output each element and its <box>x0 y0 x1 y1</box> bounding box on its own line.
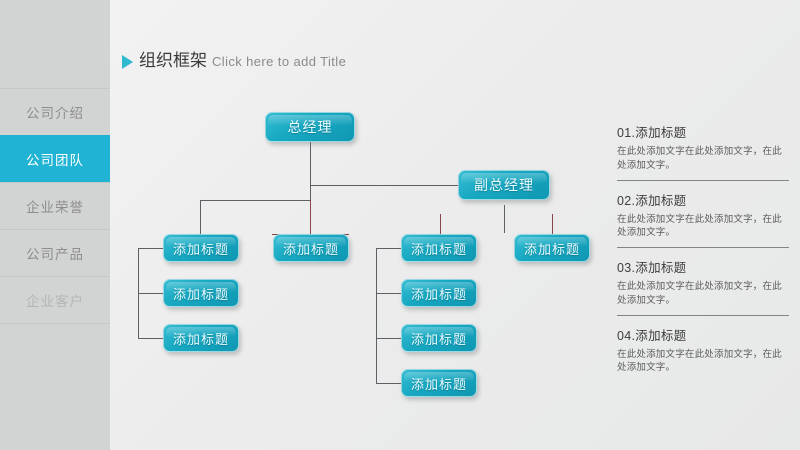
org-node-label: 添加标题 <box>411 239 467 258</box>
connector-center-col-spine <box>376 248 377 383</box>
connector-drop-b <box>310 200 311 234</box>
org-node-label: 添加标题 <box>173 284 229 303</box>
org-node-label: 添加标题 <box>411 284 467 303</box>
org-node-level1-c[interactable]: 添加标题 <box>401 234 477 262</box>
org-node-label: 添加标题 <box>283 239 339 258</box>
detail-body: 在此处添加文字在此处添加文字，在此处添加文字。 <box>617 145 789 173</box>
org-node-level2-c4[interactable]: 添加标题 <box>401 369 477 397</box>
detail-item-01: 01.添加标题 在此处添加文字在此处添加文字，在此处添加文字。 <box>617 122 789 181</box>
connector-drop-a <box>200 200 201 234</box>
sidebar-divider-bottom <box>0 323 110 370</box>
detail-item-03: 03.添加标题 在此处添加文字在此处添加文字，在此处添加文字。 <box>617 257 789 316</box>
detail-heading: 04.添加标题 <box>617 325 789 344</box>
sidebar-item-company-products[interactable]: 公司产品 <box>0 229 110 276</box>
sidebar-nav: 公司介绍 公司团队 企业荣誉 公司产品 企业客户 <box>0 0 110 450</box>
sidebar-item-company-clients[interactable]: 企业客户 <box>0 276 110 323</box>
detail-heading: 02.添加标题 <box>617 190 789 209</box>
sidebar-item-label: 企业客户 <box>26 290 84 310</box>
org-node-level1-b[interactable]: 添加标题 <box>273 234 349 262</box>
sidebar-item-label: 公司团队 <box>26 149 84 169</box>
sidebar-item-label: 公司产品 <box>26 243 84 263</box>
org-chart: 总经理 副总经理 添加标题 添加标题 添加标题 添加标题 添加标题 添加标题 添… <box>110 0 610 450</box>
org-node-level2-c3[interactable]: 添加标题 <box>401 324 477 352</box>
org-node-level1-a[interactable]: 添加标题 <box>163 234 239 262</box>
sidebar-item-label: 企业荣誉 <box>26 196 84 216</box>
connector-center-col-d <box>376 383 401 384</box>
detail-item-04: 04.添加标题 在此处添加文字在此处添加文字，在此处添加文字。 <box>617 325 789 383</box>
detail-item-02: 02.添加标题 在此处添加文字在此处添加文字，在此处添加文字。 <box>617 190 789 249</box>
org-node-general-manager[interactable]: 总经理 <box>265 112 355 142</box>
detail-body: 在此处添加文字在此处添加文字，在此处添加文字。 <box>617 348 789 376</box>
detail-body: 在此处添加文字在此处添加文字，在此处添加文字。 <box>617 280 789 308</box>
connector-center-col-b <box>376 293 401 294</box>
org-node-level2-c2[interactable]: 添加标题 <box>401 279 477 307</box>
org-node-label: 添加标题 <box>173 329 229 348</box>
slide-canvas: 公司介绍 公司团队 企业荣誉 公司产品 企业客户 组织框架 Click here… <box>0 0 800 450</box>
org-node-label: 副总经理 <box>474 175 534 195</box>
connector-center-col-a <box>376 248 401 249</box>
org-node-level2-a3[interactable]: 添加标题 <box>163 324 239 352</box>
org-node-label: 添加标题 <box>411 329 467 348</box>
connector-center-col-c <box>376 338 401 339</box>
details-panel: 01.添加标题 在此处添加文字在此处添加文字，在此处添加文字。 02.添加标题 … <box>617 122 789 391</box>
org-node-label: 添加标题 <box>411 374 467 393</box>
org-node-level2-a2[interactable]: 添加标题 <box>163 279 239 307</box>
org-node-label: 添加标题 <box>173 239 229 258</box>
sidebar-item-company-team[interactable]: 公司团队 <box>0 135 110 182</box>
detail-body: 在此处添加文字在此处添加文字，在此处添加文字。 <box>617 213 789 241</box>
org-node-label: 添加标题 <box>524 239 580 258</box>
sidebar-item-company-honor[interactable]: 企业荣誉 <box>0 182 110 229</box>
sidebar-item-company-intro[interactable]: 公司介绍 <box>0 88 110 135</box>
org-node-level1-d[interactable]: 添加标题 <box>514 234 590 262</box>
connector-deputy-stem <box>504 205 505 233</box>
connector-drop-c <box>440 214 441 234</box>
connector-left-col-c <box>138 338 163 339</box>
connector-left-col-a <box>138 248 163 249</box>
connector-left-col-b <box>138 293 163 294</box>
org-node-label: 总经理 <box>288 117 333 137</box>
connector-left-bar <box>200 200 311 201</box>
detail-heading: 03.添加标题 <box>617 257 789 276</box>
connector-drop-d <box>552 214 553 234</box>
sidebar-item-label: 公司介绍 <box>26 102 84 122</box>
org-node-deputy-general-manager[interactable]: 副总经理 <box>458 170 550 200</box>
detail-heading: 01.添加标题 <box>617 122 789 141</box>
